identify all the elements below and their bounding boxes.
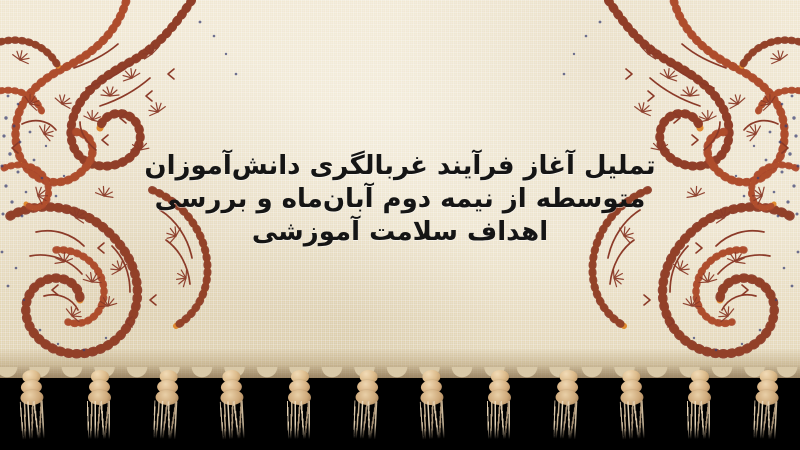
- tassel: [148, 367, 186, 449]
- tassel-skirt: [152, 400, 179, 439]
- tassel-skirt: [752, 400, 779, 439]
- announcement-line-1: تملیل آغاز فرآیند غربالگری دانش‌آموزان: [0, 150, 800, 183]
- tassel-skirt: [687, 401, 712, 439]
- tassel-skirt: [352, 400, 379, 439]
- tassel: [83, 368, 117, 448]
- tassel-skirt: [552, 400, 579, 439]
- tassel-fringe: [0, 368, 800, 450]
- announcement-text-block: تملیل آغاز فرآیند غربالگری دانش‌آموزان م…: [0, 150, 800, 249]
- tassel-skirt: [420, 400, 447, 439]
- tassel-skirt: [620, 400, 647, 439]
- tassel: [548, 367, 586, 449]
- tassel-skirt: [87, 401, 112, 439]
- tassel-skirt: [220, 400, 247, 439]
- tassel: [748, 367, 786, 449]
- tassel: [483, 368, 517, 448]
- tassel: [614, 367, 652, 449]
- announcement-line-3: اهداف سلامت آموزشی: [0, 216, 800, 249]
- tassel: [414, 367, 452, 449]
- tassel-skirt: [487, 401, 512, 439]
- tassel: [683, 368, 717, 448]
- tassel: [283, 368, 317, 448]
- announcement-line-2: متوسطه از نیمه دوم آبان‌ماه و بررسی: [0, 183, 800, 216]
- banner-image: تملیل آغاز فرآیند غربالگری دانش‌آموزان م…: [0, 0, 800, 450]
- tassel: [214, 367, 252, 449]
- tassel-skirt: [20, 400, 47, 439]
- tassel-skirt: [287, 401, 312, 439]
- tassel: [348, 367, 386, 449]
- tassel: [14, 367, 52, 449]
